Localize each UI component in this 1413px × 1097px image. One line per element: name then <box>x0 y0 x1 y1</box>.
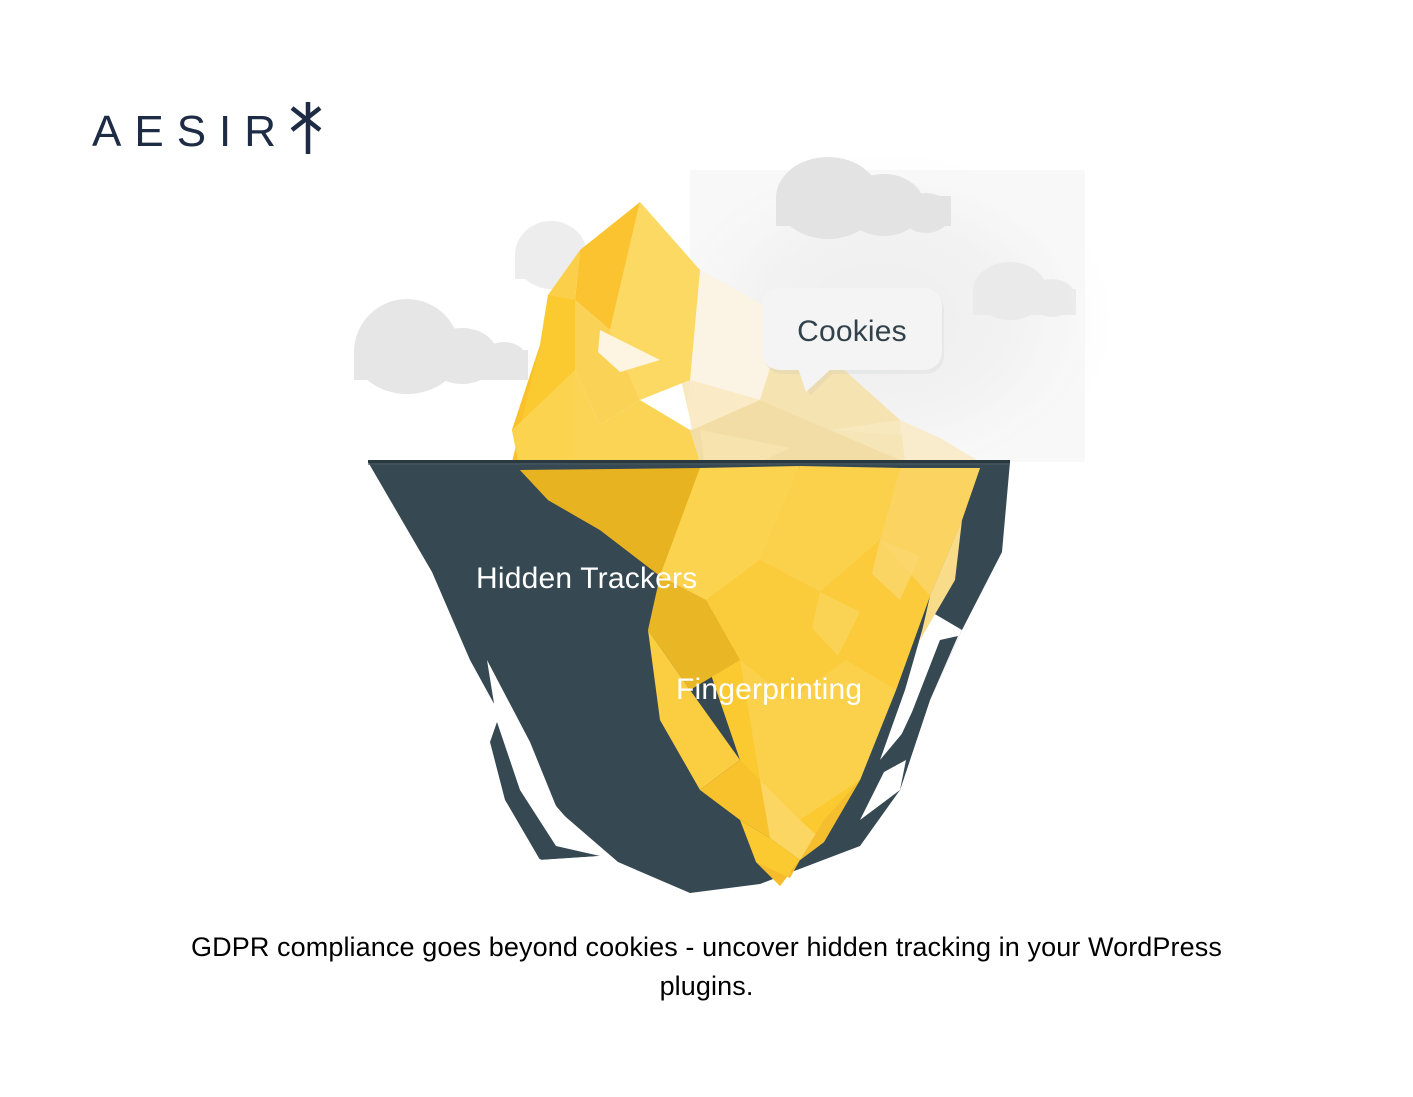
caption-text: GDPR compliance goes beyond cookies - un… <box>177 928 1237 1006</box>
waterline <box>368 460 1010 465</box>
iceberg-illustration: Cookies Hidden Trackers Fingerprinting <box>0 0 1413 930</box>
caption: GDPR compliance goes beyond cookies - un… <box>0 928 1413 1006</box>
cookies-bubble-label: Cookies <box>797 315 907 348</box>
label-hidden-trackers: Hidden Trackers <box>476 562 697 595</box>
cloud-left <box>354 299 528 394</box>
label-fingerprinting: Fingerprinting <box>676 673 862 706</box>
